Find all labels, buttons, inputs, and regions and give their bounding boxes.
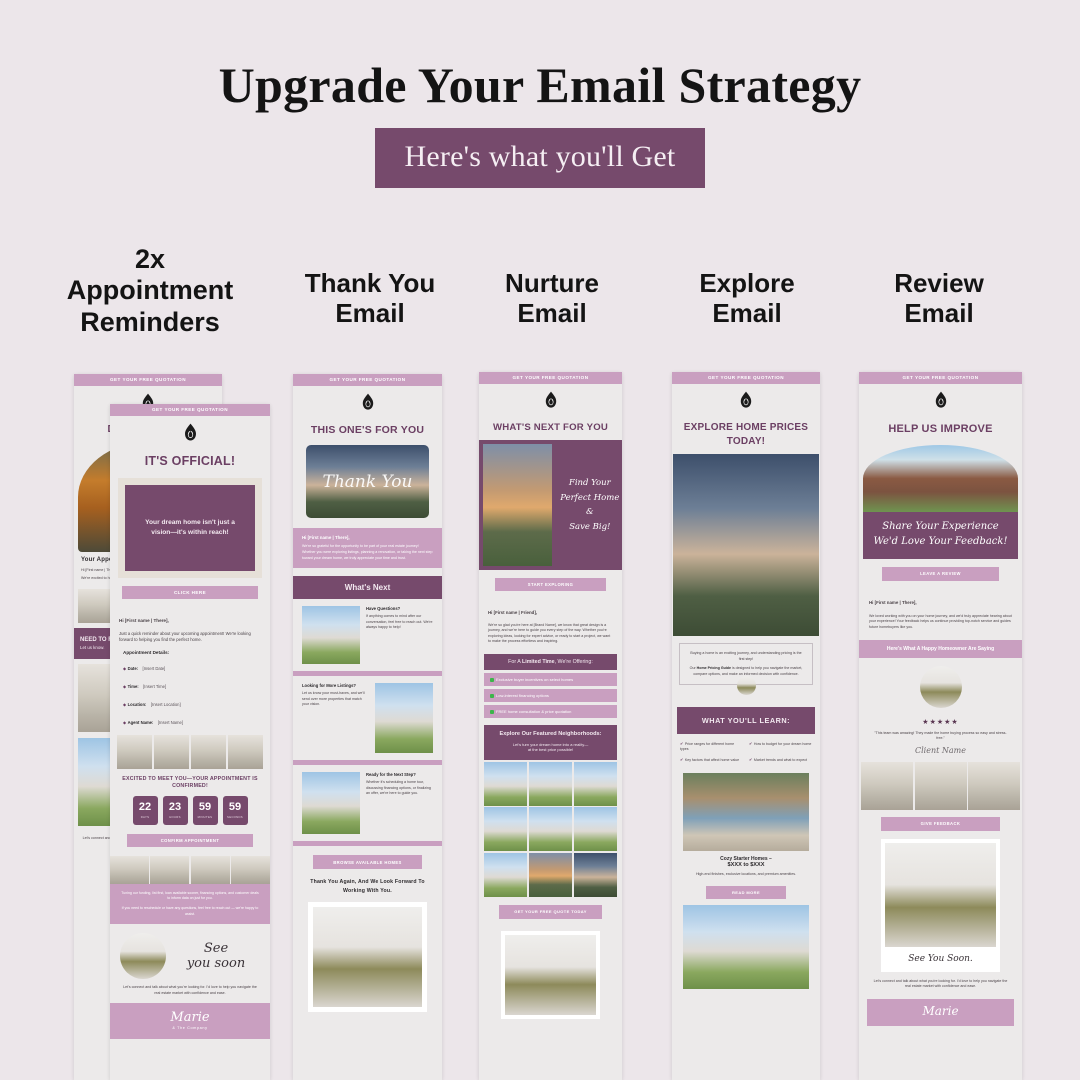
- check-icon: [490, 710, 494, 714]
- details-title: Appointment Details:: [123, 650, 257, 655]
- check-icon: [490, 678, 494, 682]
- section-title: Ready for the Next Step?: [366, 772, 433, 777]
- testimonial-signature: Client Name: [871, 746, 1010, 755]
- countdown-timer: 22 DAYS 23 HOURS 59 MINUTES 59 SECONDS: [118, 796, 262, 825]
- cta-click-here[interactable]: CLICK HERE: [122, 586, 258, 599]
- column-heading-explore: Explore Email: [662, 268, 832, 328]
- intro-block: Hi [First name | There], We're so gratef…: [293, 528, 442, 568]
- heading-line: Reminders: [48, 307, 252, 338]
- footer-sub: & The Company: [110, 1026, 270, 1030]
- listing-title-2: $XXX to $XXX: [682, 862, 810, 868]
- photo-strip-2: [110, 856, 270, 884]
- section-title: Looking for More Listings?: [302, 683, 369, 688]
- hero-block: Find Your Perfect Home & Save Big!: [479, 440, 622, 570]
- countdown-value: 23: [169, 802, 181, 813]
- offer-bold: Limited Time: [522, 659, 555, 665]
- countdown-cell: 59 MINUTES: [193, 796, 218, 825]
- flame-logo-icon: [182, 423, 199, 442]
- photo-strip: [861, 762, 1020, 810]
- testimonial-quote: "This team was amazing! They made the ho…: [871, 731, 1010, 742]
- hero-photo: Thank You: [306, 445, 429, 518]
- heading-line: Nurture: [468, 268, 636, 298]
- section-photo: [302, 606, 360, 664]
- section-photo: [302, 772, 360, 834]
- email-heading: WHAT'S NEXT FOR YOU: [479, 422, 622, 433]
- detail-label: Location:: [128, 702, 147, 707]
- confirm-banner: EXCITED TO MEET YOU—YOUR APPOINTMENT IS …: [120, 776, 260, 790]
- page-subtitle-badge: Here's what you'll Get: [375, 128, 706, 188]
- brand-logo: [293, 386, 442, 420]
- appointment-details: Appointment Details: ◆Date: [Insert Date…: [110, 646, 270, 733]
- signoff-script: See you soon: [172, 941, 260, 971]
- hero-script-text: Thank You: [322, 472, 412, 492]
- flame-logo-icon: [933, 391, 949, 409]
- offer-text: FREE home consultation & price quotation: [496, 709, 571, 714]
- banner-sub-2: at the best price possible!: [490, 747, 611, 752]
- email-mockup-explore[interactable]: GET YOUR FREE QUOTATION EXPLORE HOME PRI…: [672, 372, 820, 1080]
- brand-logo: [859, 384, 1022, 418]
- detail-value: [Insert Name]: [158, 720, 183, 725]
- detail-label: Date:: [128, 666, 138, 671]
- banner-label: WHAT YOU'LL LEARN:: [702, 716, 790, 725]
- heading-line: Appointment: [48, 275, 252, 306]
- cta-browse-homes[interactable]: BROWSE AVAILABLE HOMES: [313, 855, 422, 869]
- cta-label: START EXPLORING: [528, 582, 573, 587]
- heading-line: Email: [468, 298, 636, 328]
- heading-line: Review: [850, 268, 1028, 298]
- offer-item: FREE home consultation & price quotation: [484, 705, 617, 718]
- signoff-body: Let's connect and talk about what you're…: [110, 985, 270, 996]
- detail-item: ◆Date: [Insert Date]: [123, 657, 257, 675]
- hero-script-band: Share Your Experience We'd Love Your Fee…: [863, 512, 1018, 559]
- body-bold: Home Pricing Guide: [697, 666, 731, 670]
- brand-logo: [110, 416, 270, 451]
- learn-item: ✔Price ranges for different home types: [680, 741, 743, 753]
- learn-text: Market trends and what to expect: [754, 758, 807, 762]
- agent-avatar-wrap: [672, 676, 820, 700]
- email-heading: IT'S OFFICIAL!: [110, 454, 270, 469]
- email-mockup-nurture[interactable]: GET YOUR FREE QUOTATION WHAT'S NEXT FOR …: [479, 372, 622, 1080]
- thank-you-section: Have Questions? If anything comes to min…: [293, 599, 442, 671]
- hero-photo: [863, 445, 1018, 512]
- offer-text: Low-interest financing options: [496, 693, 549, 698]
- heading-line: Thank You: [288, 268, 452, 298]
- poster-canvas: Upgrade Your Email Strategy Here's what …: [0, 0, 1080, 1080]
- learn-item: ✔How to budget for your dream home: [749, 741, 812, 753]
- offer-item: Exclusive buyer incentives on select hom…: [484, 673, 617, 686]
- cta-start-exploring[interactable]: START EXPLORING: [495, 578, 606, 591]
- hero-quote-frame: Your dream home isn't just a vision—it's…: [118, 478, 262, 578]
- banner-title: Explore Our Featured Neighborhoods:: [490, 731, 611, 737]
- grid-photo[interactable]: [484, 762, 527, 806]
- promo-topbar[interactable]: GET YOUR FREE QUOTATION: [293, 374, 442, 386]
- agent-photo: [120, 933, 166, 979]
- reviewer-avatar: [920, 666, 962, 708]
- flame-logo-icon: [738, 391, 754, 409]
- hero-quote-box: Your dream home isn't just a vision—it's…: [125, 485, 255, 571]
- intro-text: We're so grateful for the opportunity to…: [302, 544, 433, 561]
- banner-label: Here's What A Happy Homeowner Are Saying: [887, 646, 994, 652]
- hero-photo: [673, 454, 819, 636]
- greeting: Hi [First name | There],: [302, 535, 433, 540]
- email-footer: Marie & The Company: [110, 1003, 270, 1039]
- cta-confirm-appointment[interactable]: CONFIRM APPOINTMENT: [127, 834, 253, 847]
- testimonial-banner: Here's What A Happy Homeowner Are Saying: [859, 640, 1022, 658]
- signoff-script: See You Soon.: [885, 947, 996, 972]
- agent-photo: [505, 935, 596, 1015]
- email-heading-line-2: TODAY!: [672, 436, 820, 448]
- grid-photo[interactable]: [484, 853, 527, 897]
- email-mockup-appointment-front[interactable]: GET YOUR FREE QUOTATION IT'S OFFICIAL! Y…: [110, 404, 270, 1080]
- script-line-1: Share Your Experience: [863, 519, 1018, 535]
- countdown-cell: 22 DAYS: [133, 796, 158, 825]
- cta-label: CONFIRM APPOINTMENT: [161, 838, 220, 843]
- agent-photo: [885, 843, 996, 947]
- grid-photo[interactable]: [968, 762, 1020, 810]
- note-line-1: Tuning our funding, list first, loan ava…: [120, 891, 260, 902]
- star-rating: ★★★★★: [871, 718, 1010, 726]
- greeting: Hi [First name | There],: [869, 600, 917, 605]
- cta-label: GIVE FEEDBACK: [921, 821, 961, 826]
- footer-name: Marie: [110, 1010, 270, 1025]
- learn-banner: WHAT YOU'LL LEARN:: [677, 707, 815, 734]
- learn-text: Key factors that affect home value: [685, 758, 739, 762]
- cta-free-quote[interactable]: GET YOUR FREE QUOTE TODAY: [499, 905, 602, 919]
- email-heading-line-1: EXPLORE HOME PRICES: [672, 422, 820, 434]
- photo-strip: [117, 735, 263, 769]
- email-footer: Marie: [867, 999, 1014, 1026]
- promo-topbar[interactable]: GET YOUR FREE QUOTATION: [479, 372, 622, 384]
- flame-logo-icon: [360, 393, 376, 411]
- neighborhoods-banner: Explore Our Featured Neighborhoods: Let'…: [484, 725, 617, 760]
- heading-line: 2x: [48, 244, 252, 275]
- promo-topbar[interactable]: GET YOUR FREE QUOTATION: [110, 404, 270, 416]
- cta-label: LEAVE A REVIEW: [920, 571, 961, 576]
- intro-text: We're so glad you're here at [Brand Name…: [479, 621, 622, 647]
- section-body: If anything comes to mind after our conv…: [366, 614, 433, 630]
- subtitle-wrap: Here's what you'll Get: [0, 128, 1080, 188]
- cta-label: BROWSE AVAILABLE HOMES: [333, 860, 402, 865]
- listing-sub: High-end finishes, exclusive locations, …: [682, 872, 810, 877]
- whats-next-banner: What's Next: [293, 576, 442, 599]
- grid-photo[interactable]: [484, 807, 527, 851]
- offer-banner: For A Limited Time, We're Offering:: [484, 654, 617, 670]
- card-body-1: Buying a home is an exciting journey, an…: [689, 651, 803, 662]
- promo-topbar[interactable]: GET YOUR FREE QUOTATION: [672, 372, 820, 384]
- section-photo: [375, 683, 433, 753]
- offer-post: , We're Offering:: [555, 659, 593, 665]
- section-title: Have Questions?: [366, 606, 433, 611]
- agent-photo-frame: [501, 931, 600, 1019]
- listing-photo-2[interactable]: [683, 905, 809, 989]
- section-body: Let us know your must-haves, and we'll s…: [302, 691, 369, 707]
- grid-photo[interactable]: [529, 807, 572, 851]
- column-heading-thank-you: Thank You Email: [288, 268, 452, 328]
- grid-photo[interactable]: [861, 762, 913, 810]
- countdown-unit: HOURS: [169, 815, 181, 819]
- cta-label: GET YOUR FREE QUOTE TODAY: [514, 909, 587, 914]
- script-line-3: Save Big!: [558, 520, 622, 534]
- detail-item: ◆Agent Name: [Insert Name]: [123, 711, 257, 729]
- countdown-unit: SECONDS: [227, 815, 243, 819]
- greeting: Hi [First name | There],: [119, 618, 169, 623]
- banner-label: What's Next: [345, 583, 390, 592]
- detail-item: ◆Time: [Insert Time]: [123, 675, 257, 693]
- greeting-row: Hi [First name | Friend],: [479, 599, 622, 621]
- grid-photo[interactable]: [529, 762, 572, 806]
- script-line-2: Perfect Home &: [558, 491, 622, 520]
- body-pre: Our: [690, 666, 697, 670]
- countdown-cell: 23 HOURS: [163, 796, 188, 825]
- thank-you-section: Looking for More Listings? Let us know y…: [293, 676, 442, 760]
- countdown-value: 22: [139, 802, 151, 813]
- grid-photo[interactable]: [574, 807, 617, 851]
- detail-value: [Insert Location]: [151, 702, 181, 707]
- offer-item: Low-interest financing options: [484, 689, 617, 702]
- brand-logo: [672, 384, 820, 418]
- learn-item: ✔Key factors that affect home value: [680, 757, 743, 763]
- listing-photo[interactable]: [683, 773, 809, 851]
- closing-line: Thank You Again, And We Look Forward To …: [303, 878, 432, 895]
- hero-photo: [483, 444, 552, 566]
- grid-photo[interactable]: [574, 762, 617, 806]
- brand-logo: [479, 384, 622, 418]
- promo-topbar[interactable]: GET YOUR FREE QUOTATION: [859, 372, 1022, 384]
- countdown-cell: 59 SECONDS: [223, 796, 248, 825]
- script-line-1: Find Your: [558, 476, 622, 490]
- intro-text: We loved working with you on your home j…: [859, 611, 1022, 633]
- page-title: Upgrade Your Email Strategy: [0, 56, 1080, 114]
- neighborhood-grid: [484, 762, 617, 897]
- promo-topbar[interactable]: GET YOUR FREE QUOTATION: [74, 374, 222, 386]
- heading-line: Email: [662, 298, 832, 328]
- detail-value: [Insert Time]: [143, 684, 166, 689]
- testimonial-block: ★★★★★ "This team was amazing! They made …: [859, 658, 1022, 757]
- note-line-2: If you need to reschedule or have any qu…: [120, 906, 260, 917]
- section-body: Whether it's scheduling a home tour, dis…: [366, 780, 433, 796]
- cta-label: CLICK HERE: [174, 590, 206, 595]
- flame-logo-icon: [543, 391, 559, 409]
- cta-label: READ MORE: [732, 890, 760, 895]
- email-heading: HELP US IMPROVE: [859, 423, 1022, 436]
- footer-name: Marie: [867, 1004, 1014, 1018]
- signoff-block: See you soon: [110, 924, 270, 985]
- column-heading-nurture: Nurture Email: [468, 268, 636, 328]
- learn-list: ✔Price ranges for different home types ✔…: [672, 734, 820, 770]
- intro-text: Just a quick reminder about your upcomin…: [110, 629, 270, 646]
- detail-label: Agent Name:: [128, 720, 154, 725]
- column-heading-appointment: 2x Appointment Reminders: [48, 244, 252, 338]
- countdown-value: 59: [199, 802, 211, 813]
- detail-value: [Insert Date]: [143, 666, 166, 671]
- agent-photo-frame: See You Soon.: [881, 839, 1000, 972]
- detail-label: Time:: [128, 684, 139, 689]
- agent-photo-frame: [308, 902, 427, 1012]
- countdown-unit: DAYS: [141, 815, 150, 819]
- divider-band: [293, 841, 442, 846]
- email-mockup-review[interactable]: GET YOUR FREE QUOTATION HELP US IMPROVE …: [859, 372, 1022, 1080]
- thank-you-section: Ready for the Next Step? Whether it's sc…: [293, 765, 442, 841]
- email-mockup-thank-you[interactable]: GET YOUR FREE QUOTATION THIS ONE'S FOR Y…: [293, 374, 442, 1080]
- agent-photo: [313, 907, 422, 1007]
- column-headings: 2x Appointment Reminders Thank You Email…: [0, 236, 1080, 356]
- check-icon: [490, 694, 494, 698]
- cta-give-feedback[interactable]: GIVE FEEDBACK: [881, 817, 1000, 831]
- detail-item: ◆Location: [Insert Location]: [123, 693, 257, 711]
- script-line-2: We'd Love Your Feedback!: [863, 534, 1018, 550]
- cta-leave-review[interactable]: LEAVE A REVIEW: [882, 567, 999, 581]
- heading-line: Email: [288, 298, 452, 328]
- hero-quote-text: Your dream home isn't just a vision—it's…: [135, 518, 245, 538]
- heading-line: Explore: [662, 268, 832, 298]
- learn-item: ✔Market trends and what to expect: [749, 757, 812, 763]
- greeting-row: Hi [First name | There],: [110, 607, 270, 629]
- script-line-2: you soon: [172, 956, 260, 971]
- avatar: [737, 676, 756, 695]
- greeting: Hi [First name | Friend],: [488, 610, 537, 615]
- listing-info: Cozy Starter Homes – $XXX to $XXX High-e…: [672, 854, 820, 879]
- closing-text: Let's connect and talk about what you're…: [859, 972, 1022, 997]
- learn-text: How to budget for your dream home: [754, 742, 812, 746]
- script-line-1: See: [172, 941, 260, 956]
- cta-read-more[interactable]: READ MORE: [706, 886, 786, 899]
- column-heading-review: Review Email: [850, 268, 1028, 328]
- heading-line: Email: [850, 298, 1028, 328]
- offer-text: Exclusive buyer incentives on select hom…: [496, 677, 573, 682]
- email-heading: THIS ONE'S FOR YOU: [293, 424, 442, 436]
- countdown-unit: MINUTES: [198, 815, 213, 819]
- grid-photo[interactable]: [915, 762, 967, 810]
- hero-script-block: Find Your Perfect Home & Save Big!: [552, 440, 622, 570]
- offer-pre: For A: [508, 659, 522, 665]
- countdown-value: 59: [229, 802, 241, 813]
- learn-text: Price ranges for different home types: [680, 742, 734, 751]
- reschedule-note: Tuning our funding, list first, loan ava…: [110, 884, 270, 924]
- greeting-row: Hi [First name | There],: [859, 589, 1022, 611]
- grid-photo[interactable]: [529, 853, 572, 897]
- grid-photo[interactable]: [574, 853, 617, 897]
